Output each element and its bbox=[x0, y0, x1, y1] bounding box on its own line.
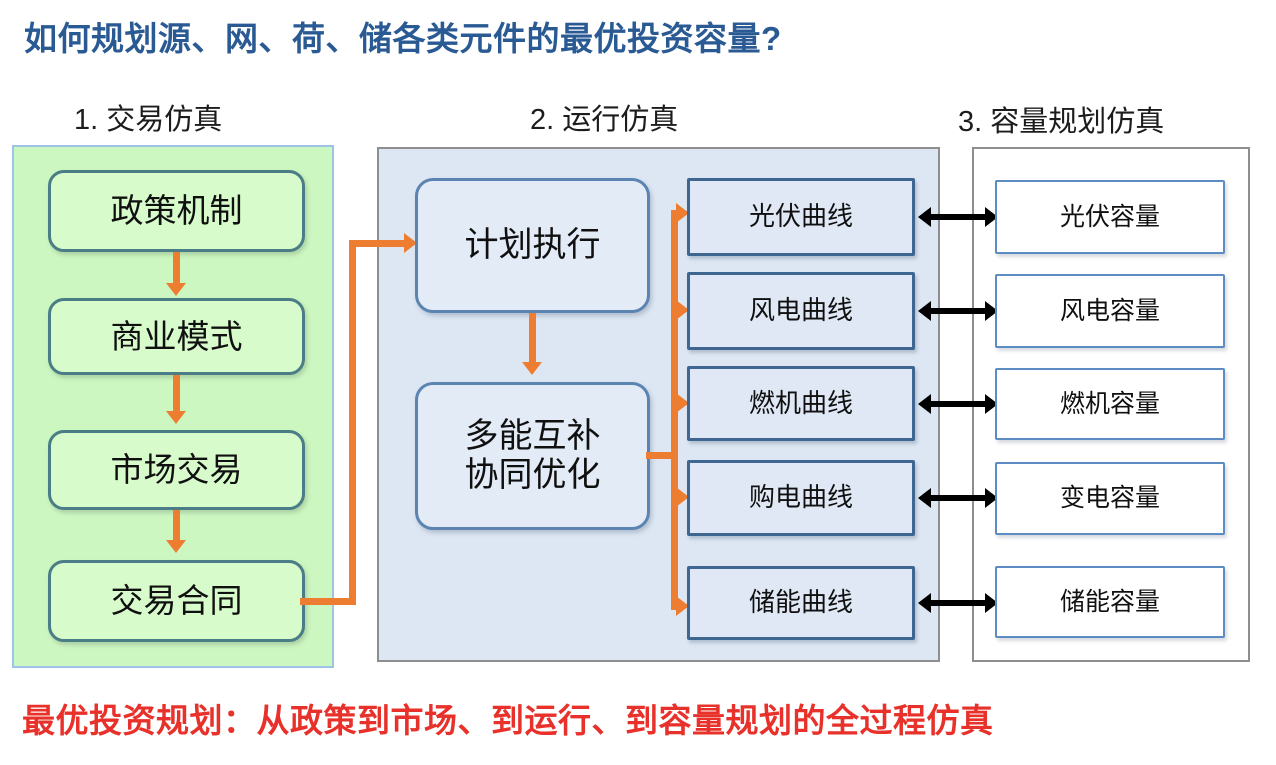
node-purchase-curve[interactable]: 购电曲线 bbox=[687, 460, 915, 536]
connector-contract-to-plan bbox=[349, 240, 411, 247]
node-gas-capacity[interactable]: 燃机容量 bbox=[995, 368, 1225, 440]
connector-policy-to-business bbox=[173, 252, 180, 285]
arrow-shaft-pv bbox=[927, 214, 989, 220]
node-pv-curve[interactable]: 光伏曲线 bbox=[687, 178, 915, 256]
bottom-caption: 最优投资规划：从政策到市场、到运行、到容量规划的全过程仿真 bbox=[22, 694, 1262, 742]
link-arrow-pv bbox=[918, 207, 998, 227]
page-title: 如何规划源、网、荷、储各类元件的最优投资容量? bbox=[24, 12, 782, 60]
arrow-shaft-gas bbox=[927, 401, 989, 407]
node-wind-capacity[interactable]: 风电容量 bbox=[995, 274, 1225, 348]
arrow-shaft-storage bbox=[927, 600, 989, 606]
node-policy-mechanism[interactable]: 政策机制 bbox=[48, 170, 305, 252]
connector-market-to-contract bbox=[173, 510, 180, 542]
node-trading-contract[interactable]: 交易合同 bbox=[48, 560, 305, 642]
arrow-shaft-substation bbox=[927, 495, 989, 501]
node-gas-curve[interactable]: 燃机曲线 bbox=[687, 366, 915, 441]
section-header-capacity: 3. 容量规划仿真 bbox=[958, 98, 1164, 140]
node-wind-curve[interactable]: 风电曲线 bbox=[687, 272, 915, 350]
node-storage-capacity[interactable]: 储能容量 bbox=[995, 566, 1225, 638]
arrowhead-business-to-market bbox=[166, 411, 186, 424]
node-pv-capacity[interactable]: 光伏容量 bbox=[995, 180, 1225, 254]
arrow-shaft-wind bbox=[927, 308, 989, 314]
node-market-trading[interactable]: 市场交易 bbox=[48, 430, 305, 510]
link-arrow-substation bbox=[918, 488, 998, 508]
link-arrow-storage bbox=[918, 593, 998, 613]
connector-plan-to-multi-energy bbox=[529, 313, 536, 365]
node-substation-capacity[interactable]: 变电容量 bbox=[995, 462, 1225, 535]
node-multi-energy-line1: 多能互补 bbox=[465, 417, 601, 456]
connector-contract-riser bbox=[349, 240, 356, 602]
node-multi-energy-line2: 协同优化 bbox=[465, 456, 601, 495]
node-multi-energy-optimization[interactable]: 多能互补 协同优化 bbox=[415, 382, 650, 530]
section-header-operation: 2. 运行仿真 bbox=[530, 96, 678, 138]
arrowhead-plan-to-multi-energy bbox=[522, 362, 542, 375]
node-plan-execution[interactable]: 计划执行 bbox=[415, 178, 650, 313]
section-header-trading: 1. 交易仿真 bbox=[74, 96, 222, 138]
node-storage-curve[interactable]: 储能曲线 bbox=[687, 566, 915, 640]
connector-contract-out bbox=[300, 598, 356, 605]
arrowhead-policy-to-business bbox=[166, 283, 186, 296]
link-arrow-gas bbox=[918, 394, 998, 414]
connector-business-to-market bbox=[173, 375, 180, 413]
node-business-model[interactable]: 商业模式 bbox=[48, 298, 305, 375]
arrowhead-market-to-contract bbox=[166, 540, 186, 553]
link-arrow-wind bbox=[918, 301, 998, 321]
